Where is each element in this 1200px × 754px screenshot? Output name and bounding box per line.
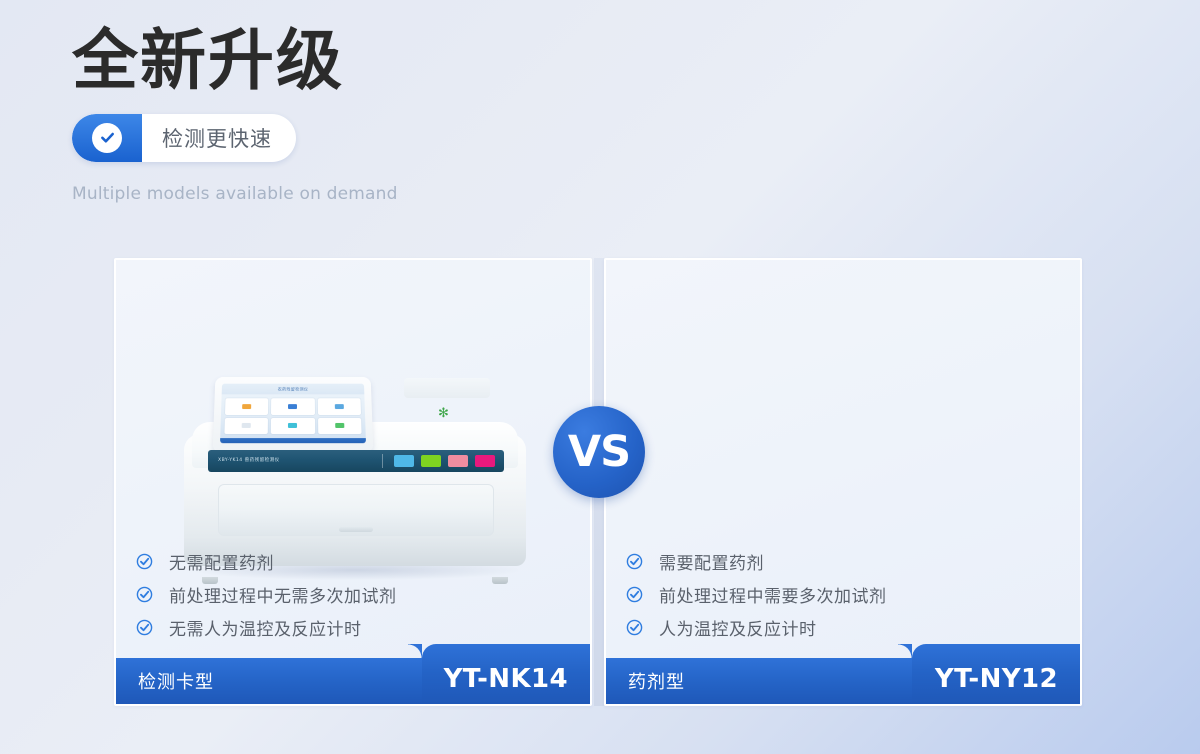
page-header: 全新升级 检测更快速 Multiple models available on … <box>72 26 398 204</box>
product-card-right-body: 农药残留检测仪 2023-10-23 10:24:36 <box>606 260 1080 658</box>
feature-item: 需要配置药剂 <box>626 549 887 574</box>
feature-item: 无需配置药剂 <box>136 549 397 574</box>
page-title: 全新升级 <box>72 26 398 96</box>
feature-label: 前处理过程中无需多次加试剂 <box>169 582 397 607</box>
feature-list-right: 需要配置药剂 前处理过程中需要多次加试剂 <box>626 549 887 640</box>
device-panel-text: XBY-YK14 兽药残留检测仪 <box>218 457 280 463</box>
product-model-label: YT-NK14 <box>444 664 568 694</box>
screen-tile[interactable] <box>318 417 362 434</box>
check-circle-icon <box>92 123 122 153</box>
check-circle-icon <box>136 619 153 636</box>
check-circle-icon <box>136 553 153 570</box>
page-subtitle: Multiple models available on demand <box>72 184 398 204</box>
product-footer-right: 药剂型 YT-NY12 <box>606 658 1080 704</box>
feature-label: 人为温控及反应计时 <box>659 615 817 640</box>
tray-handle[interactable] <box>339 527 373 532</box>
feature-item: 前处理过程中需要多次加试剂 <box>626 582 887 607</box>
vs-badge: VS <box>553 406 645 498</box>
badge-icon-container <box>72 114 142 162</box>
feature-list-left: 无需配置药剂 前处理过程中无需多次加试剂 <box>136 549 397 640</box>
device-screen[interactable]: 农药残留检测仪 <box>220 384 366 444</box>
screen-tile[interactable] <box>271 417 315 434</box>
screen-footer-bar <box>220 438 366 443</box>
feature-label: 需要配置药剂 <box>659 549 764 574</box>
device-sample-tray[interactable] <box>218 484 494 536</box>
check-circle-icon <box>626 619 643 636</box>
feature-item: 人为温控及反应计时 <box>626 615 887 640</box>
product-card-right[interactable]: 农药残留检测仪 2023-10-23 10:24:36 <box>604 258 1082 706</box>
feature-badge: 检测更快速 <box>72 114 296 162</box>
product-type-label: 检测卡型 <box>138 668 214 694</box>
device-foot <box>492 577 508 584</box>
screen-tile[interactable] <box>317 398 361 414</box>
product-model-label: YT-NY12 <box>935 664 1058 694</box>
device-vent <box>404 378 490 398</box>
feature-label: 前处理过程中需要多次加试剂 <box>659 582 887 607</box>
device-screen-frame: 农药残留检测仪 <box>213 377 374 452</box>
device-button-row <box>394 455 495 467</box>
screen-tile[interactable] <box>224 417 268 434</box>
feature-label: 无需人为温控及反应计时 <box>169 615 362 640</box>
device-button-start[interactable] <box>394 455 414 467</box>
screen-tile[interactable] <box>225 398 269 414</box>
product-type-label: 药剂型 <box>628 668 685 694</box>
feature-item: 无需人为温控及反应计时 <box>136 615 397 640</box>
feature-label: 无需配置药剂 <box>169 549 274 574</box>
check-circle-icon <box>136 586 153 603</box>
comparison-page: 全新升级 检测更快速 Multiple models available on … <box>0 0 1200 754</box>
vs-label: VS <box>568 431 630 474</box>
device-screen-title: 农药残留检测仪 <box>222 384 365 395</box>
device-screen-tiles <box>220 394 366 438</box>
check-circle-icon <box>626 586 643 603</box>
product-card-left[interactable]: ✻ 农药残留检测仪 <box>114 258 592 706</box>
device-button-test[interactable] <box>421 455 441 467</box>
device-front-panel: XBY-YK14 兽药残留检测仪 <box>208 450 504 472</box>
device-button-print[interactable] <box>448 455 468 467</box>
device-logo-icon: ✻ <box>438 406 449 419</box>
badge-label: 检测更快速 <box>142 114 296 162</box>
screen-tile[interactable] <box>271 398 314 414</box>
product-card-left-body: ✻ 农药残留检测仪 <box>116 260 590 658</box>
panel-separator <box>382 454 383 468</box>
device-button-cancel[interactable] <box>475 455 495 467</box>
feature-item: 前处理过程中无需多次加试剂 <box>136 582 397 607</box>
check-circle-icon <box>626 553 643 570</box>
product-footer-left: 检测卡型 YT-NK14 <box>116 658 590 704</box>
